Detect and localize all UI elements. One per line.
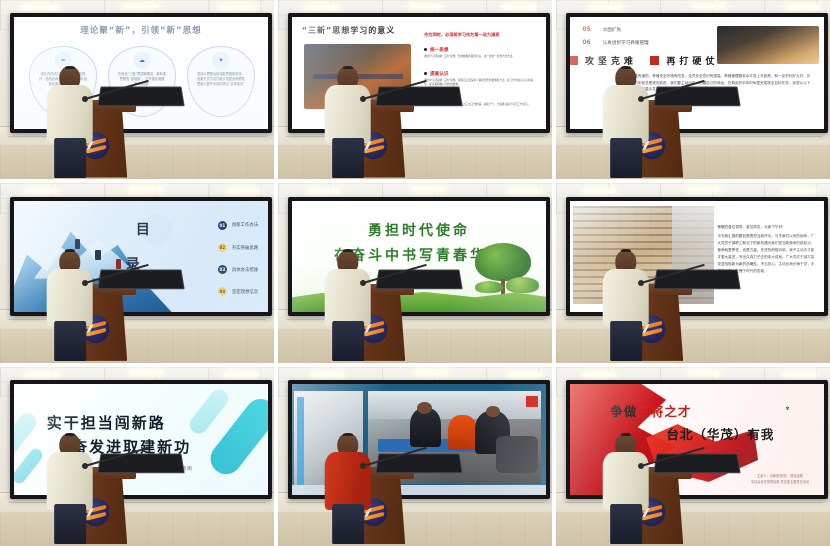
conference-room: 勇担时代使命 在奋斗中书写青春华章 汇报人：2024年8月30日 — [278, 183, 552, 362]
toc-item: 02 夯实突破思路 — [218, 243, 258, 252]
laptop-icon — [375, 270, 463, 290]
gallery-photo-1[interactable]: 理论聚“新”，引领“新”思想 ≈ 强化内在动力驱动，主动认知提升，检验自我“新”… — [0, 0, 274, 179]
conference-room: 尊敬的各位领导、各位同志，大家下午好！ 今天我汇报的题目是勇担当新作为，与先辈们… — [556, 183, 830, 362]
slide-title-line-2: 台北（华茂）有我 — [666, 424, 774, 443]
bullet-item: 提高认识 通过学习活动将“三新”思想，使得员工更深刻了解新形势新要求新方法，在工… — [424, 71, 536, 87]
photo-grid: 理论聚“新”，引领“新”思想 ≈ 强化内在动力驱动，主动认知提升，检验自我“新”… — [0, 0, 830, 546]
toc-item: 03 具体办法措施 — [218, 265, 258, 274]
slide-footer: 主讲人：孙新刚 职务：项目经理 中共台北华茂项目部 党支部主题党日活动 — [751, 474, 809, 485]
speaker — [325, 250, 372, 361]
slide-heading-right: 再打硬仗 — [666, 54, 718, 67]
speaker — [603, 433, 650, 544]
speaker — [325, 66, 372, 177]
conference-room: 争做三将之才 台北（华茂）有我 ✾ 主讲人：孙新刚 职务：项目经理 中共台北华茂… — [556, 367, 830, 546]
speaker — [603, 250, 650, 361]
conference-room — [278, 367, 552, 546]
slide-photo — [717, 26, 819, 64]
gallery-photo-8[interactable] — [278, 367, 552, 546]
gallery-photo-6[interactable]: 尊敬的各位领导、各位同志，大家下午好！ 今天我汇报的题目是勇担当新作为，与先辈们… — [556, 183, 830, 362]
conference-room: 实干担当闯新路 奋发进取建新功 汇报人： 孙新刚 — [0, 367, 274, 546]
laptop-icon — [375, 86, 463, 106]
conference-room: 05 水面扩张 06 认真组织学习养殖管理 攻坚克难 再打硬仗 任重有道的，养殖… — [556, 0, 830, 179]
gallery-photo-2[interactable]: “三新”思想学习的意义 作为同时，必须将学习作为第一动力源泉 统一思想 通过学习… — [278, 0, 552, 179]
laptop-icon — [97, 453, 185, 473]
laptop-icon — [653, 270, 741, 290]
conference-room: 目 录 01 创新工作办法 02 夯实突破思路 03 具体办法措施 — [0, 183, 274, 362]
diagram-item: ✦ 坚持以思想为统领新思维新变化，创新方式方法打破认知壁垒和惯性思维以提升为培训… — [187, 46, 255, 117]
gallery-photo-7[interactable]: 实干担当闯新路 奋发进取建新功 汇报人： 孙新刚 — [0, 367, 274, 546]
speaker — [603, 66, 650, 177]
bulb-icon: ✦ — [212, 52, 229, 69]
bullet-item: 统一思想 通过学习活动将“三新”思想、形成统属的理念共识，进一步统一思想方式方法… — [424, 47, 536, 59]
laptop-icon — [653, 86, 741, 106]
slide-title-line-1: 争做三将之才 — [610, 401, 691, 420]
laptop-icon — [375, 453, 463, 473]
gallery-photo-3[interactable]: 05 水面扩张 06 认真组织学习养殖管理 攻坚克难 再打硬仗 任重有道的，养殖… — [556, 0, 830, 179]
conference-room: “三新”思想学习的意义 作为同时，必须将学习作为第一动力源泉 统一思想 通过学习… — [278, 0, 552, 179]
cloud-lock-icon: ☁ — [133, 52, 150, 69]
laptop-icon — [97, 270, 185, 290]
speaker — [47, 250, 94, 361]
toc-item: 01 创新工作办法 — [218, 221, 258, 230]
conference-room: 理论聚“新”，引领“新”思想 ≈ 强化内在动力驱动，主动认知提升，检验自我“新”… — [0, 0, 274, 179]
slide-title: 理论聚“新”，引领“新”思想 — [14, 24, 269, 36]
gallery-photo-5[interactable]: 勇担时代使命 在奋斗中书写青春华章 汇报人：2024年8月30日 — [278, 183, 552, 362]
laptop-icon — [97, 86, 185, 106]
speaker — [47, 66, 94, 177]
speaker — [325, 433, 372, 544]
toc-item: 04 坚定理想信念 — [218, 287, 258, 296]
gallery-photo-4[interactable]: 目 录 01 创新工作办法 02 夯实突破思路 03 具体办法措施 — [0, 183, 274, 362]
speaker — [47, 433, 94, 544]
slide-title: “三新”思想学习的意义 — [302, 25, 432, 36]
toc-heading-char-1: 目 — [136, 219, 152, 239]
gallery-photo-9[interactable]: 争做三将之才 台北（华茂）有我 ✾ 主讲人：孙新刚 职务：项目经理 中共台北华茂… — [556, 367, 830, 546]
slide-heading-left: 攻坚克难 — [585, 54, 637, 67]
slide-subtitle: 作为同时，必须将学习作为第一动力源泉 — [424, 32, 536, 38]
laptop-icon — [653, 453, 741, 473]
seal-icon: ✾ — [776, 397, 799, 420]
slide-title-line-1: 勇担时代使命 — [292, 220, 547, 240]
slide-title-line-1: 实干担当闯新路 — [47, 412, 166, 433]
